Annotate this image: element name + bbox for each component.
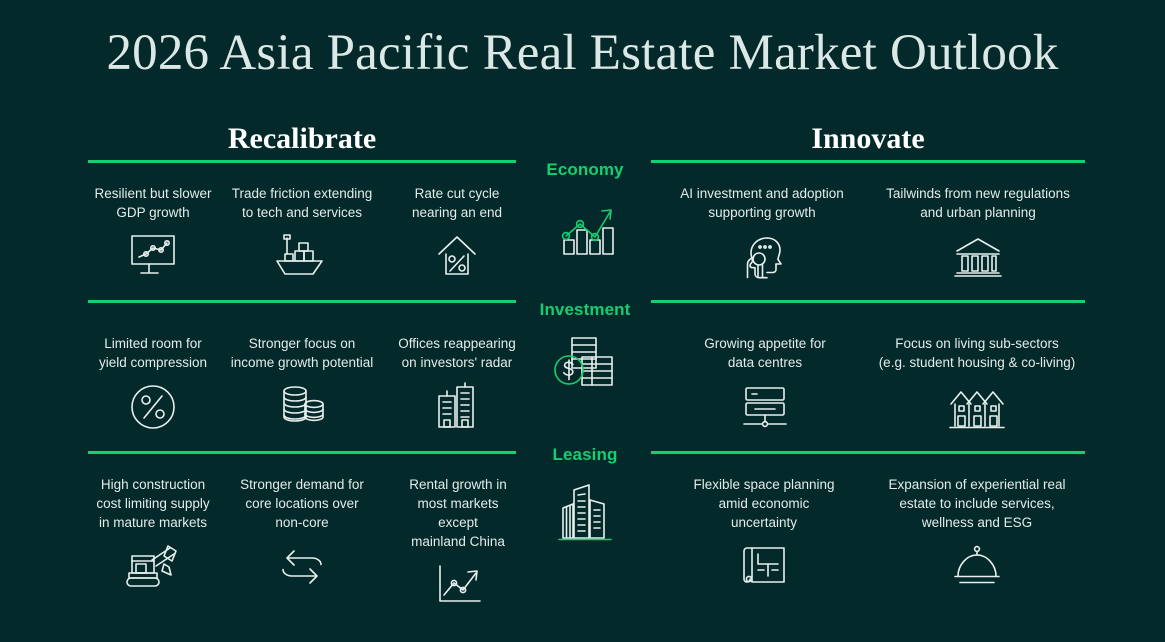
buildings-dollar-coin-icon [520,334,650,394]
cell-right-r2c1: Growing appetite fordata centres [680,334,850,432]
cell-left-r1c1: Resilient but slowerGDP growth [88,184,218,280]
divider-left-row2 [88,300,516,303]
city-skyline-icon [520,478,650,546]
bar-chart-growth-icon [520,196,650,258]
monitor-chart-icon [88,232,218,280]
cell-right-r1c2: Tailwinds from new regulationsand urban … [870,184,1086,280]
center-label-investment: Investment [520,299,650,321]
excavator-icon [88,542,218,590]
infographic-canvas: 2026 Asia Pacific Real Estate Market Out… [0,0,1165,642]
cell-text: Offices reappearingon investors' radar [396,334,518,372]
column-headings: Recalibrate Innovate [0,120,1165,162]
cell-text: Tailwinds from new regulationsand urban … [870,184,1086,222]
cell-right-r3c2: Expansion of experiential realestate to … [868,475,1086,588]
cell-text: Stronger demand forcore locations overno… [223,475,381,532]
cell-text: High constructioncost limiting supplyin … [88,475,218,532]
divider-right-row1 [651,160,1085,163]
houses-row-icon [868,382,1086,432]
cell-left-r2c1: Limited room foryield compression [88,334,218,432]
divider-left-row1 [88,160,516,163]
percent-circle-icon [88,382,218,432]
office-towers-icon [396,382,518,432]
cloche-dome-icon [868,542,1086,588]
cell-left-r3c2: Stronger demand forcore locations overno… [223,475,381,590]
cell-left-r1c2: Trade friction extendingto tech and serv… [223,184,381,280]
cell-left-r2c2: Stronger focus onincome growth potential [223,334,381,432]
government-building-icon [870,232,1086,280]
floor-plan-icon [677,542,851,590]
cell-text: Limited room foryield compression [88,334,218,372]
cell-text: Stronger focus onincome growth potential [223,334,381,372]
cell-left-r1c3: Rate cut cyclenearing an end [396,184,518,280]
center-label-leasing: Leasing [520,444,650,466]
server-rack-icon [680,382,850,432]
cell-text: Resilient but slowerGDP growth [88,184,218,222]
cell-text: Growing appetite fordata centres [680,334,850,372]
cell-text: Expansion of experiential realestate to … [868,475,1086,532]
column-heading-recalibrate: Recalibrate [88,120,516,158]
column-heading-innovate: Innovate [651,120,1085,158]
cell-text: AI investment and adoptionsupporting gro… [651,184,873,222]
cell-text: Flexible space planningamid economicunce… [677,475,851,532]
cell-right-r1c1: AI investment and adoptionsupporting gro… [651,184,873,284]
cargo-ship-icon [223,232,381,280]
cell-left-r3c3: Rental growth inmost markets exceptmainl… [396,475,520,609]
cell-text: Rental growth inmost markets exceptmainl… [396,475,520,551]
cell-text: Trade friction extendingto tech and serv… [223,184,381,222]
cell-text: Focus on living sub-sectors(e.g. student… [868,334,1086,372]
cell-right-r3c1: Flexible space planningamid economicunce… [677,475,851,590]
center-label-economy: Economy [520,159,650,181]
coin-stacks-icon [223,382,381,432]
divider-right-row3 [651,451,1085,454]
arrow-up-percent-icon [396,232,518,280]
page-title: 2026 Asia Pacific Real Estate Market Out… [0,22,1165,84]
divider-left-row3 [88,451,516,454]
ai-head-icon [651,232,873,284]
line-chart-arrow-icon [396,561,520,609]
swap-arrows-icon [223,542,381,590]
cell-text: Rate cut cyclenearing an end [396,184,518,222]
divider-right-row2 [651,300,1085,303]
cell-right-r2c2: Focus on living sub-sectors(e.g. student… [868,334,1086,432]
cell-left-r3c1: High constructioncost limiting supplyin … [88,475,218,590]
cell-left-r2c3: Offices reappearingon investors' radar [396,334,518,432]
